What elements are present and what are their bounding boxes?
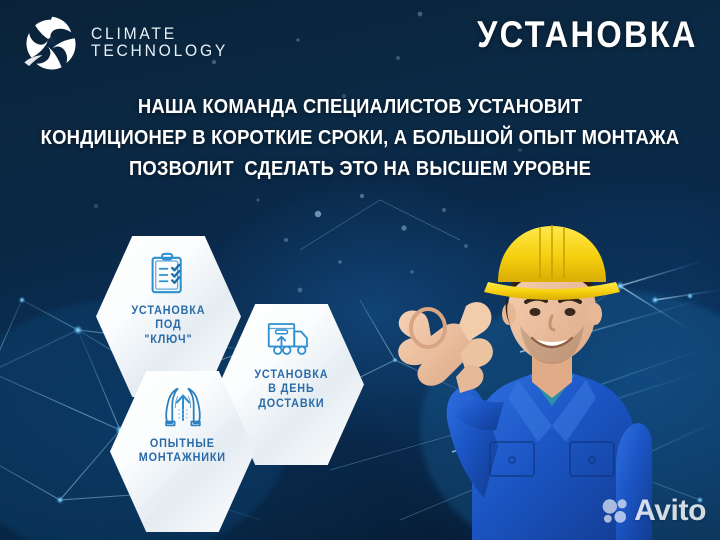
feature-caption: ОПЫТНЫЕ МОНТАЖНИКИ (139, 437, 226, 466)
feature-caption: УСТАНОВКА ПОД "КЛЮЧ" (131, 304, 205, 347)
headline-block: НАША КОМАНДА СПЕЦИАЛИСТОВ УСТАНОВИТ КОНД… (0, 92, 720, 184)
ok-hand-gesture (398, 302, 493, 393)
feature-caption-line-1: УСТАНОВКА (254, 368, 328, 382)
brand-logo: CLIMATE TECHNOLOGY (22, 12, 240, 72)
headline-line-1: НАША КОМАНДА СПЕЦИАЛИСТОВ УСТАНОВИТ (36, 92, 684, 123)
caring-hands-arrow-icon (157, 383, 209, 431)
avito-dots-icon (602, 498, 628, 524)
feature-caption-line-3: "КЛЮЧ" (131, 333, 205, 347)
avito-label: Avito (634, 496, 706, 526)
feature-caption-line-2: МОНТАЖНИКИ (139, 451, 226, 465)
logo-line-1: CLIMATE (91, 25, 228, 42)
avito-watermark: Avito (602, 496, 706, 526)
clipboard-checklist-icon (144, 250, 194, 300)
feature-caption-line-1: УСТАНОВКА (131, 304, 205, 318)
feature-caption-line-3: ДОСТАВКИ (254, 397, 328, 411)
feature-caption: УСТАНОВКА В ДЕНЬ ДОСТАВКИ (254, 368, 328, 411)
worker-photo (380, 198, 720, 540)
delivery-truck-icon (265, 316, 319, 362)
feature-caption-line-1: ОПЫТНЫЕ (139, 437, 226, 451)
feature-caption-line-2: В ДЕНЬ (254, 382, 328, 396)
headline-line-2: КОНДИЦИОНЕР В КОРОТКИЕ СРОКИ, А БОЛЬШОЙ … (36, 123, 684, 154)
spiral-fan-logo-icon (22, 12, 82, 72)
feature-caption-line-2: ПОД (131, 318, 205, 332)
headline-line-3: ПОЗВОЛИТ СДЕЛАТЬ ЭТО НА ВЫСШЕМ УРОВНЕ (36, 154, 684, 185)
logo-line-2: TECHNOLOGY (91, 42, 228, 59)
promo-banner: CLIMATE TECHNOLOGY УСТАНОВКА НАША КОМАНД… (0, 0, 720, 540)
page-title: УСТАНОВКА (477, 14, 698, 56)
